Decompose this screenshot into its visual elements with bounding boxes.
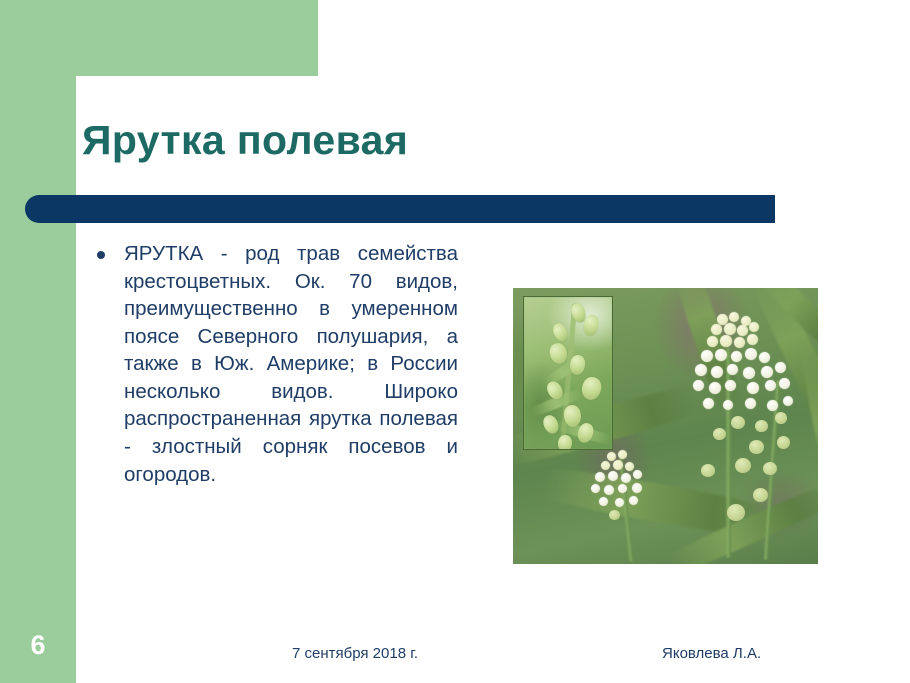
green-sidebar-accent: [0, 0, 76, 683]
flower-cluster-secondary: [587, 450, 657, 520]
seed-pod: [701, 464, 715, 477]
flower-cluster-main: [689, 312, 799, 472]
inset-closeup-photo: [523, 296, 613, 450]
title-divider-bar: [25, 195, 775, 223]
bullet-list-item: ЯРУТКА - род трав семейства крестоцветны…: [92, 240, 458, 488]
seed-pod: [753, 488, 768, 502]
green-header-accent: [0, 0, 318, 76]
page-title: Ярутка полевая: [82, 118, 782, 164]
seed-pod: [727, 504, 745, 521]
plant-photo: [513, 288, 818, 564]
bullet-dot-icon: [97, 251, 105, 259]
body-content-block: ЯРУТКА - род трав семейства крестоцветны…: [92, 240, 458, 488]
footer-date: 7 сентября 2018 г.: [292, 645, 418, 662]
footer-author: Яковлева Л.А.: [662, 645, 761, 662]
slide-number: 6: [0, 630, 76, 661]
bullet-item-text: ЯРУТКА - род трав семейства крестоцветны…: [124, 240, 458, 488]
presentation-slide: Ярутка полевая ЯРУТКА - род трав семейст…: [0, 0, 910, 683]
